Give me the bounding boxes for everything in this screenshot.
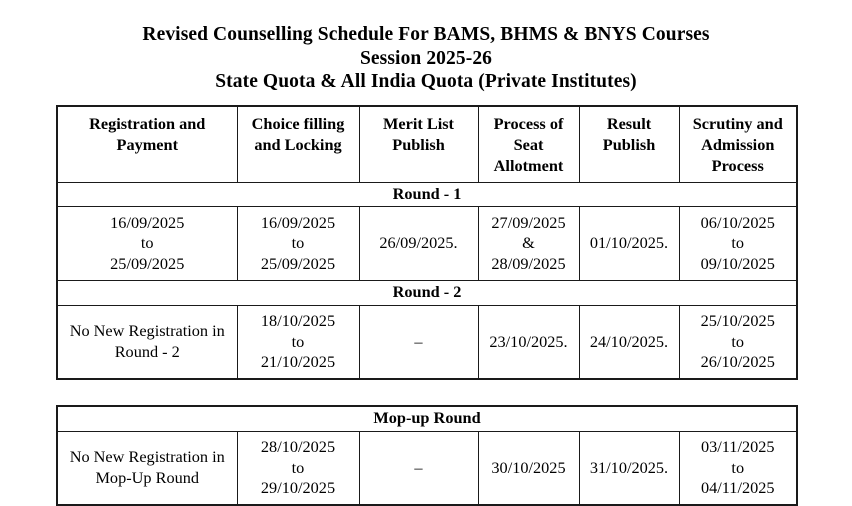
header-text-line: Payment bbox=[61, 134, 234, 155]
cell-scrutiny-and-admission-process: 06/10/2025 to 09/10/2025 bbox=[679, 207, 797, 281]
section-label-mop-up-round: Mop-up Round bbox=[57, 406, 797, 431]
cell-text-line: 24/10/2025. bbox=[583, 332, 676, 353]
cell-choice-filling-and-locking: 16/09/2025 to 25/09/2025 bbox=[237, 207, 359, 281]
section-label-row-mop-up-round: Mop-up Round bbox=[57, 406, 797, 431]
cell-text-line: to bbox=[241, 458, 356, 479]
cell-text-line: 09/10/2025 bbox=[683, 254, 794, 275]
cell-text-line: 25/09/2025 bbox=[61, 254, 234, 275]
cell-result-publish: 01/10/2025. bbox=[579, 207, 679, 281]
cell-text-line: Mop-Up Round bbox=[61, 468, 234, 489]
cell-text-line: 28/09/2025 bbox=[482, 254, 576, 275]
cell-choice-filling-and-locking: 18/10/2025 to 21/10/2025 bbox=[237, 305, 359, 379]
table-row: No New Registration in Round - 2 18/10/2… bbox=[57, 305, 797, 379]
cell-text-line: 01/10/2025. bbox=[583, 233, 676, 254]
cell-text-line: 26/09/2025. bbox=[363, 233, 475, 254]
cell-text-line: 21/10/2025 bbox=[241, 352, 356, 373]
section-label-round-2: Round - 2 bbox=[57, 281, 797, 306]
cell-text-line: 27/09/2025 bbox=[482, 213, 576, 234]
cell-registration-and-payment: No New Registration in Mop-Up Round bbox=[57, 431, 237, 505]
cell-process-of-seat-allotment: 30/10/2025 bbox=[478, 431, 579, 505]
cell-merit-list-publish: – bbox=[359, 431, 478, 505]
header-text-line: Publish bbox=[583, 134, 676, 155]
section-label-row-round-2: Round - 2 bbox=[57, 281, 797, 306]
cell-text-line: Round - 2 bbox=[61, 342, 234, 363]
header-text-line: Process of bbox=[482, 113, 576, 134]
cell-result-publish: 31/10/2025. bbox=[579, 431, 679, 505]
cell-text-line: 28/10/2025 bbox=[241, 437, 356, 458]
cell-choice-filling-and-locking: 28/10/2025 to 29/10/2025 bbox=[237, 431, 359, 505]
cell-text-line: 31/10/2025. bbox=[583, 458, 676, 479]
cell-text-line: & bbox=[482, 233, 576, 254]
cell-text-line: 25/09/2025 bbox=[241, 254, 356, 275]
cell-text-line: 16/09/2025 bbox=[61, 213, 234, 234]
header-text-line: and Locking bbox=[241, 134, 356, 155]
header-text-line: Result bbox=[583, 113, 676, 134]
cell-registration-and-payment: No New Registration in Round - 2 bbox=[57, 305, 237, 379]
cell-text-line: 16/09/2025 bbox=[241, 213, 356, 234]
cell-merit-list-publish: – bbox=[359, 305, 478, 379]
table-header-row: Registration and Payment Choice filling … bbox=[57, 106, 797, 183]
schedule-table-mopup: Mop-up Round No New Registration in Mop-… bbox=[56, 405, 798, 506]
heading-line-1: Revised Counselling Schedule For BAMS, B… bbox=[0, 23, 852, 47]
document-heading: Revised Counselling Schedule For BAMS, B… bbox=[0, 0, 852, 94]
cell-text-line: No New Registration in bbox=[61, 321, 234, 342]
header-text-line: Choice filling bbox=[241, 113, 356, 134]
cell-text-line: to bbox=[683, 233, 794, 254]
cell-text-line: 26/10/2025 bbox=[683, 352, 794, 373]
cell-text-line: 23/10/2025. bbox=[482, 332, 576, 353]
cell-text-line: to bbox=[61, 233, 234, 254]
column-header-process-of-seat-allotment: Process of Seat Allotment bbox=[478, 106, 579, 183]
cell-process-of-seat-allotment: 23/10/2025. bbox=[478, 305, 579, 379]
cell-text-line: to bbox=[683, 458, 794, 479]
cell-text-line: – bbox=[363, 458, 475, 479]
schedule-table-primary-wrap: Registration and Payment Choice filling … bbox=[56, 105, 796, 381]
cell-scrutiny-and-admission-process: 03/11/2025 to 04/11/2025 bbox=[679, 431, 797, 505]
header-text-line: Merit List bbox=[363, 113, 475, 134]
cell-process-of-seat-allotment: 27/09/2025 & 28/09/2025 bbox=[478, 207, 579, 281]
cell-text-line: to bbox=[241, 233, 356, 254]
cell-result-publish: 24/10/2025. bbox=[579, 305, 679, 379]
cell-text-line: 30/10/2025 bbox=[482, 458, 576, 479]
section-label-round-1: Round - 1 bbox=[57, 182, 797, 207]
section-label-row-round-1: Round - 1 bbox=[57, 182, 797, 207]
header-text-line: Scrutiny and bbox=[683, 113, 794, 134]
header-text-line: Seat bbox=[482, 134, 576, 155]
table-separator-gap bbox=[0, 380, 852, 405]
cell-text-line: No New Registration in bbox=[61, 447, 234, 468]
header-text-line: Publish bbox=[363, 134, 475, 155]
header-text-line: Process bbox=[683, 155, 794, 176]
cell-scrutiny-and-admission-process: 25/10/2025 to 26/10/2025 bbox=[679, 305, 797, 379]
header-text-line: Admission bbox=[683, 134, 794, 155]
table-row: 16/09/2025 to 25/09/2025 16/09/2025 to 2… bbox=[57, 207, 797, 281]
column-header-scrutiny-and-admission-process: Scrutiny and Admission Process bbox=[679, 106, 797, 183]
cell-registration-and-payment: 16/09/2025 to 25/09/2025 bbox=[57, 207, 237, 281]
cell-text-line: 18/10/2025 bbox=[241, 311, 356, 332]
cell-text-line: to bbox=[683, 332, 794, 353]
cell-merit-list-publish: 26/09/2025. bbox=[359, 207, 478, 281]
column-header-merit-list-publish: Merit List Publish bbox=[359, 106, 478, 183]
cell-text-line: 29/10/2025 bbox=[241, 478, 356, 499]
column-header-choice-filling-and-locking: Choice filling and Locking bbox=[237, 106, 359, 183]
schedule-table-rounds: Registration and Payment Choice filling … bbox=[56, 105, 798, 381]
cell-text-line: to bbox=[241, 332, 356, 353]
column-header-registration-and-payment: Registration and Payment bbox=[57, 106, 237, 183]
header-text-line: Allotment bbox=[482, 155, 576, 176]
cell-text-line: 25/10/2025 bbox=[683, 311, 794, 332]
cell-text-line: 04/11/2025 bbox=[683, 478, 794, 499]
document-page: Revised Counselling Schedule For BAMS, B… bbox=[0, 0, 852, 501]
heading-line-2: Session 2025-26 bbox=[0, 47, 852, 71]
table-row: No New Registration in Mop-Up Round 28/1… bbox=[57, 431, 797, 505]
cell-text-line: – bbox=[363, 332, 475, 353]
column-header-result-publish: Result Publish bbox=[579, 106, 679, 183]
heading-line-3: State Quota & All India Quota (Private I… bbox=[0, 70, 852, 94]
header-text-line: Registration and bbox=[61, 113, 234, 134]
cell-text-line: 06/10/2025 bbox=[683, 213, 794, 234]
schedule-table-mopup-wrap: Mop-up Round No New Registration in Mop-… bbox=[56, 405, 796, 506]
cell-text-line: 03/11/2025 bbox=[683, 437, 794, 458]
